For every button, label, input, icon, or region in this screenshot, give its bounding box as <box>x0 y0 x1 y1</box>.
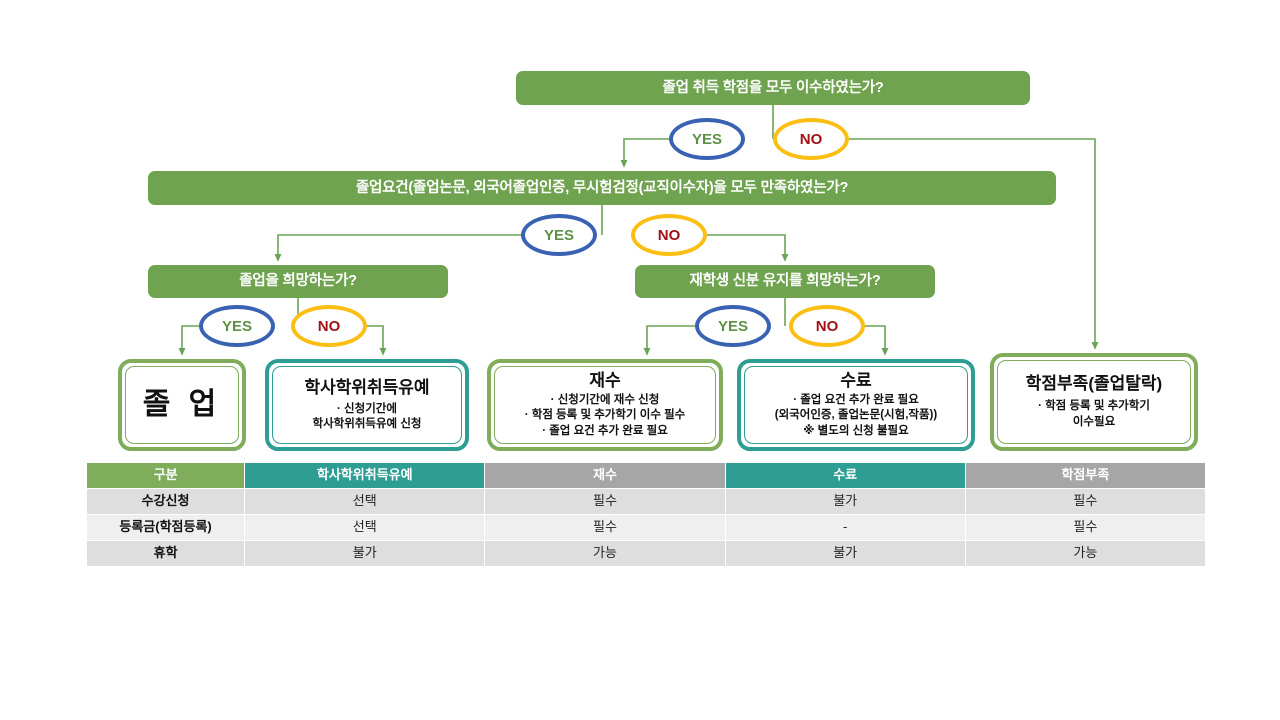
branch-yes-wish-graduate: YES <box>199 305 275 347</box>
table-header-cell: 재수 <box>485 463 725 489</box>
branch-no-credits: NO <box>773 118 849 160</box>
outcome-title: 재수 <box>589 371 620 391</box>
outcome-title: 학사학위취득유예 <box>304 378 429 398</box>
question-box-requirements: 졸업요건(졸업논문, 외국어졸업인증, 무시험검정(교직이수자)을 모두 만족하… <box>148 171 1056 205</box>
outcome-detail-line: · 학점 등록 및 추가학기 <box>1038 399 1150 414</box>
outcome-inner: 학점부족(졸업탈락) · 학점 등록 및 추가학기 이수필요 <box>997 360 1191 444</box>
table-row-label: 수강신청 <box>87 489 245 515</box>
outcome-detail-line: · 학점 등록 및 추가학기 이수 필수 <box>525 408 686 423</box>
table-cell: 선택 <box>245 515 485 541</box>
branch-no-requirements: NO <box>631 214 707 256</box>
outcome-detail-line: (외국어인증, 졸업논문(시험,작품)) <box>775 408 937 423</box>
outcome-detail-line: · 신청기간에 재수 신청 <box>551 393 660 408</box>
table-cell: 가능 <box>965 541 1205 567</box>
table-cell: 불가 <box>725 489 965 515</box>
flowchart-canvas: 졸업 취득 학점을 모두 이수하였는가? 졸업요건(졸업논문, 외국어졸업인증,… <box>0 0 1280 720</box>
outcome-detail-line: ※ 별도의 신청 불필요 <box>803 424 908 439</box>
outcome-detail-line: · 신청기간에 <box>337 402 397 417</box>
outcome-box-repeat: 재수 · 신청기간에 재수 신청 · 학점 등록 및 추가학기 이수 필수 · … <box>487 359 723 451</box>
table-cell: 불가 <box>245 541 485 567</box>
table-cell: 필수 <box>485 515 725 541</box>
table-header-cell: 수료 <box>725 463 965 489</box>
branch-no-wish-graduate: NO <box>291 305 367 347</box>
question-box-wish-graduate: 졸업을 희망하는가? <box>148 265 448 298</box>
question-box-credits: 졸업 취득 학점을 모두 이수하였는가? <box>516 71 1030 105</box>
outcome-title: 수료 <box>840 371 871 391</box>
outcome-detail-line: · 졸업 요건 추가 완료 필요 <box>793 393 919 408</box>
comparison-table: 구분 학사학위취득유예 재수 수료 학점부족 수강신청 선택 필수 불가 필수 … <box>86 462 1206 567</box>
outcome-title: 학점부족(졸업탈락) <box>1026 374 1162 394</box>
branch-yes-credits: YES <box>669 118 745 160</box>
question-box-keep-enrollment: 재학생 신분 유지를 희망하는가? <box>635 265 935 298</box>
table-cell: 선택 <box>245 489 485 515</box>
table-cell: 필수 <box>965 515 1205 541</box>
table-row: 휴학 불가 가능 불가 가능 <box>87 541 1206 567</box>
table-header-row: 구분 학사학위취득유예 재수 수료 학점부족 <box>87 463 1206 489</box>
outcome-box-degree-deferral: 학사학위취득유예 · 신청기간에 학사학위취득유예 신청 <box>265 359 469 451</box>
table-header-cell: 구분 <box>87 463 245 489</box>
outcome-box-insufficient-credits: 학점부족(졸업탈락) · 학점 등록 및 추가학기 이수필요 <box>990 353 1198 451</box>
outcome-detail-line: 이수필요 <box>1073 415 1115 430</box>
table-cell: 필수 <box>485 489 725 515</box>
table-cell: 가능 <box>485 541 725 567</box>
outcome-inner: 수료 · 졸업 요건 추가 완료 필요 (외국어인증, 졸업논문(시험,작품))… <box>744 366 968 444</box>
branch-no-keep-enrollment: NO <box>789 305 865 347</box>
table-cell: - <box>725 515 965 541</box>
outcome-box-graduation: 졸 업 <box>118 359 246 451</box>
table-cell: 필수 <box>965 489 1205 515</box>
table-row-label: 휴학 <box>87 541 245 567</box>
outcome-title: 졸 업 <box>143 387 222 422</box>
table-header-cell: 학사학위취득유예 <box>245 463 485 489</box>
outcome-box-completion: 수료 · 졸업 요건 추가 완료 필요 (외국어인증, 졸업논문(시험,작품))… <box>737 359 975 451</box>
table-row: 등록금(학점등록) 선택 필수 - 필수 <box>87 515 1206 541</box>
branch-yes-requirements: YES <box>521 214 597 256</box>
outcome-detail-line: · 졸업 요건 추가 완료 필요 <box>542 424 668 439</box>
table-row-label: 등록금(학점등록) <box>87 515 245 541</box>
table-row: 수강신청 선택 필수 불가 필수 <box>87 489 1206 515</box>
outcome-inner: 학사학위취득유예 · 신청기간에 학사학위취득유예 신청 <box>272 366 462 444</box>
outcome-inner: 재수 · 신청기간에 재수 신청 · 학점 등록 및 추가학기 이수 필수 · … <box>494 366 716 444</box>
branch-yes-keep-enrollment: YES <box>695 305 771 347</box>
outcome-detail-line: 학사학위취득유예 신청 <box>313 417 422 432</box>
outcome-inner: 졸 업 <box>125 366 239 444</box>
table-cell: 불가 <box>725 541 965 567</box>
table-header-cell: 학점부족 <box>965 463 1205 489</box>
